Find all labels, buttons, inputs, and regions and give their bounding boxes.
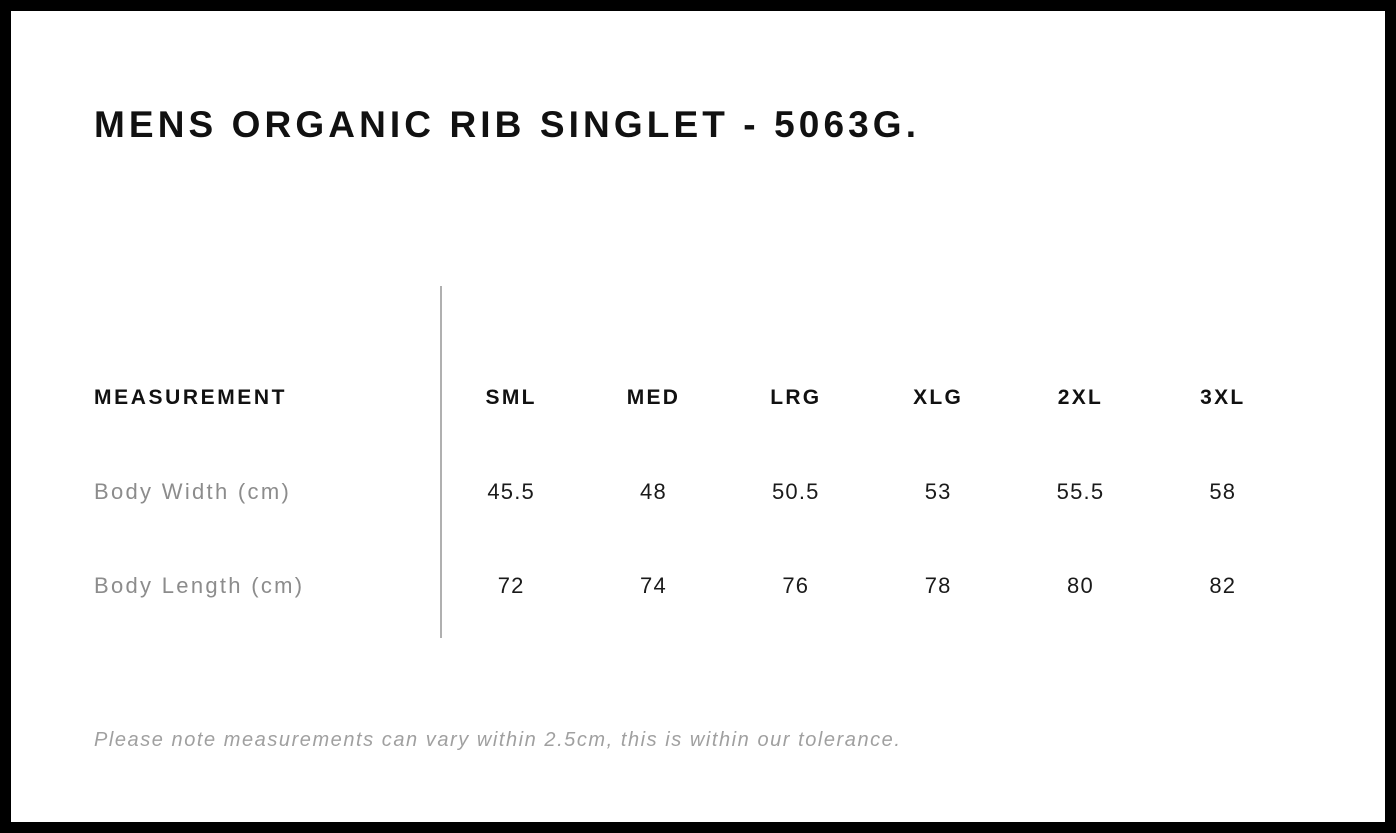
cell-body-length-2xl: 80 bbox=[1009, 573, 1151, 599]
cell-body-width-lrg: 50.5 bbox=[725, 479, 867, 505]
column-header-measurement: MEASUREMENT bbox=[94, 386, 440, 410]
column-header-2xl: 2XL bbox=[1009, 386, 1151, 410]
row-label-body-width: Body Width (cm) bbox=[94, 479, 440, 505]
cell-body-width-3xl: 58 bbox=[1152, 479, 1294, 505]
cell-body-width-2xl: 55.5 bbox=[1009, 479, 1151, 505]
table-header-row: MEASUREMENT SML MED LRG XLG 2XL 3XL bbox=[94, 351, 1294, 445]
column-header-sml: SML bbox=[440, 386, 582, 410]
column-header-3xl: 3XL bbox=[1152, 386, 1294, 410]
table-row: Body Length (cm) 72 74 76 78 80 82 bbox=[94, 539, 1294, 633]
table-row: Body Width (cm) 45.5 48 50.5 53 55.5 58 bbox=[94, 445, 1294, 539]
column-header-xlg: XLG bbox=[867, 386, 1009, 410]
column-header-lrg: LRG bbox=[725, 386, 867, 410]
cell-body-length-xlg: 78 bbox=[867, 573, 1009, 599]
row-label-body-length: Body Length (cm) bbox=[94, 573, 440, 599]
cell-body-length-lrg: 76 bbox=[725, 573, 867, 599]
cell-body-length-3xl: 82 bbox=[1152, 573, 1294, 599]
size-chart-table: MEASUREMENT SML MED LRG XLG 2XL 3XL Body… bbox=[94, 351, 1294, 633]
page-title: MENS ORGANIC RIB SINGLET - 5063G. bbox=[94, 104, 920, 146]
cell-body-width-sml: 45.5 bbox=[440, 479, 582, 505]
column-header-med: MED bbox=[582, 386, 724, 410]
cell-body-width-xlg: 53 bbox=[867, 479, 1009, 505]
tolerance-footnote: Please note measurements can vary within… bbox=[94, 729, 901, 752]
cell-body-length-med: 74 bbox=[582, 573, 724, 599]
cell-body-length-sml: 72 bbox=[440, 573, 582, 599]
size-chart-content: MENS ORGANIC RIB SINGLET - 5063G. MEASUR… bbox=[11, 11, 1385, 822]
size-chart-page: MENS ORGANIC RIB SINGLET - 5063G. MEASUR… bbox=[0, 0, 1396, 833]
cell-body-width-med: 48 bbox=[582, 479, 724, 505]
